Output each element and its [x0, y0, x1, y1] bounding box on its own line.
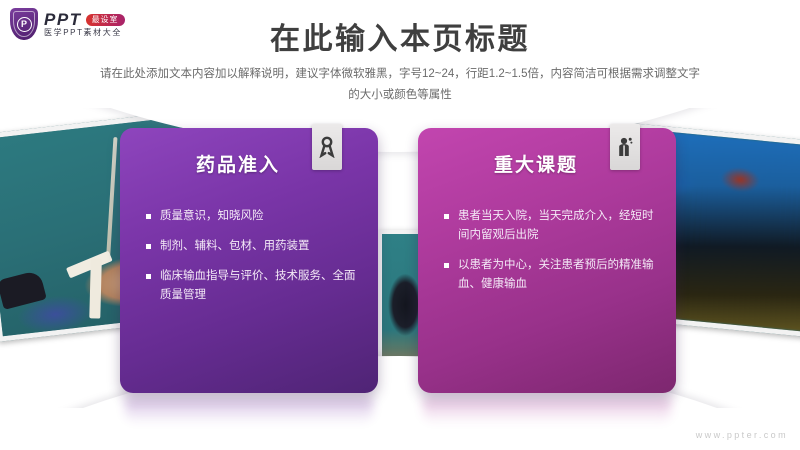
bullet-text: 以患者为中心，关注患者预后的精准输血、健康输血 [458, 256, 656, 294]
list-item: 临床输血指导与评价、技术服务、全面质量管理 [146, 267, 358, 305]
card-bullet-list: 质量意识，知晓风险 制剂、辅料、包材、用药装置 临床输血指导与评价、技术服务、全… [136, 207, 362, 305]
person-icon [610, 124, 640, 170]
watermark: www.ppter.com [696, 430, 788, 440]
list-item: 质量意识，知晓风险 [146, 207, 358, 226]
site-logo: P PPT 最设室 医学PPT素材大全 [10, 8, 125, 40]
logo-primary-row: PPT 最设室 [44, 11, 125, 28]
bullet-text: 患者当天入院，当天完成介入，经短时间内留观后出院 [458, 207, 656, 245]
list-item: 患者当天入院，当天完成介入，经短时间内留观后出院 [444, 207, 656, 245]
card-bullet-list: 患者当天入院，当天完成介入，经短时间内留观后出院 以患者为中心，关注患者预后的精… [434, 207, 660, 294]
bullet-text: 临床输血指导与评价、技术服务、全面质量管理 [160, 267, 358, 305]
list-item: 以患者为中心，关注患者预后的精准输血、健康输血 [444, 256, 656, 294]
shield-letter: P [17, 17, 32, 32]
bullet-marker [146, 244, 151, 249]
list-item: 制剂、辅料、包材、用药装置 [146, 237, 358, 256]
content-card-drug-admission[interactable]: 药品准入 质量意识，知晓风险 制剂、辅料、包材、用药装置 临床输血指导与评价、技… [120, 128, 378, 393]
ribbon-icon [312, 124, 342, 170]
bullet-text: 质量意识，知晓风险 [160, 207, 358, 226]
logo-brand: PPT [44, 11, 82, 28]
logo-badge: 最设室 [86, 14, 125, 26]
bullet-marker [146, 274, 151, 279]
content-card-major-topic[interactable]: 重大课题 患者当天入院，当天完成介入，经短时间内留观后出院 以患者为中心，关注患… [418, 128, 676, 393]
page-subtitle: 请在此处添加文本内容加以解释说明，建议字体微软雅黑，字号12~24，行距1.2~… [100, 64, 700, 107]
card-reflection-right [423, 398, 671, 424]
bullet-marker [444, 214, 449, 219]
logo-text-group: PPT 最设室 医学PPT素材大全 [44, 11, 125, 37]
shield-icon: P [10, 8, 38, 40]
bullet-marker [146, 214, 151, 219]
bullet-text: 制剂、辅料、包材、用药装置 [160, 237, 358, 256]
card-reflection-left [125, 398, 373, 424]
logo-subtitle: 医学PPT素材大全 [44, 29, 125, 37]
bullet-marker [444, 263, 449, 268]
